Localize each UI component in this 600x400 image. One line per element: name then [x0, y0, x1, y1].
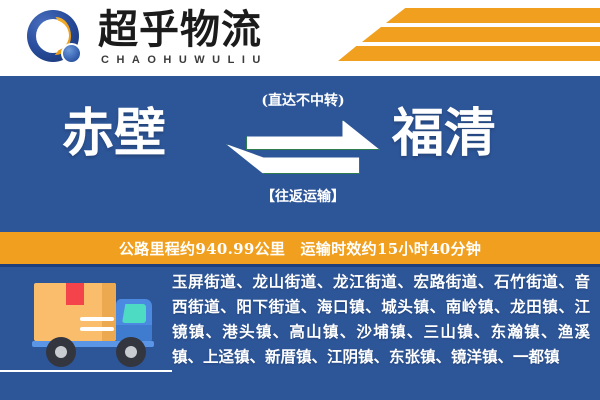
brand-name-en: CHAOHUWULIU: [98, 54, 268, 66]
truck-box-line-2: [80, 327, 114, 331]
truck-hub-front: [125, 346, 137, 358]
coverage-districts-text: 玉屏街道、龙山街道、龙江街道、宏路街道、石竹街道、音西街道、阳下街道、海口镇、城…: [172, 269, 590, 369]
coverage-section: 玉屏街道、龙山街道、龙江街道、宏路街道、石竹街道、音西街道、阳下街道、海口镇、城…: [0, 267, 600, 400]
ground-line: [0, 370, 172, 372]
logo-accent-dot: [61, 43, 82, 64]
truck-window: [122, 304, 146, 323]
stats-bar: 公路里程约940.99公里 运输时效约15小时40分钟: [0, 232, 600, 264]
truck-wheel-rear: [46, 337, 76, 367]
route-section: 赤壁 (直达不中转) 【往返运输】 福清: [0, 76, 600, 232]
stats-text: 公路里程约940.99公里 运输时效约15小时40分钟: [119, 238, 481, 259]
truck-hub-rear: [55, 346, 67, 358]
truck-cargo-shade: [102, 283, 116, 341]
stripe-1: [386, 8, 600, 23]
bidirectional-arrow-icon: [226, 120, 380, 178]
round-trip-note: 【往返运输】: [228, 186, 378, 206]
origin-city: 赤壁: [62, 104, 166, 164]
logistics-route-banner: 超乎物流 CHAOHUWULIU 赤壁 (直达不中转) 【往返运输】 福清 公路…: [0, 0, 600, 400]
delivery-truck-icon: [22, 277, 162, 369]
header-bar: 超乎物流 CHAOHUWULIU: [0, 0, 600, 76]
direct-service-note: (直达不中转): [228, 90, 378, 110]
truck-box-line-1: [80, 317, 114, 321]
stripe-3: [338, 46, 600, 61]
brand-name-cn: 超乎物流: [98, 8, 268, 52]
truck-box-tape: [66, 283, 84, 305]
truck-wheel-front: [116, 337, 146, 367]
decorative-stripes: [330, 6, 600, 70]
company-logo-icon: [27, 10, 85, 68]
destination-city: 福清: [392, 104, 496, 164]
brand-wordmark: 超乎物流 CHAOHUWULIU: [98, 8, 268, 66]
arrow-right-icon: [246, 120, 380, 150]
stripe-2: [362, 27, 600, 42]
route-arrow-group: (直达不中转) 【往返运输】: [228, 90, 378, 214]
